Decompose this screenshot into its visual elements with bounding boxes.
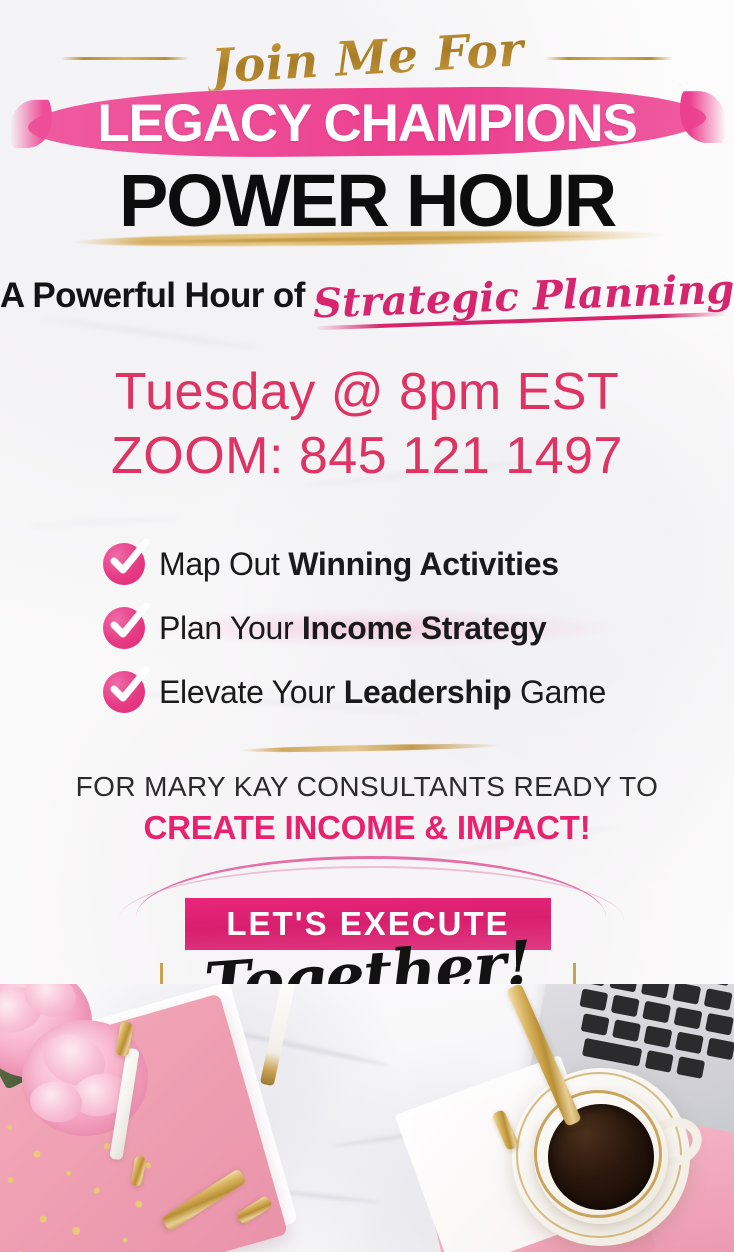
check-circle-icon <box>103 607 145 649</box>
gold-rule-left-icon <box>61 57 189 60</box>
schedule-time: Tuesday @ 8pm EST <box>0 360 734 424</box>
check-circle-icon <box>103 671 145 713</box>
cta-line-1: FOR MARY KAY CONSULTANTS READY TO <box>0 768 734 806</box>
list-item: Plan Your Income Strategy <box>0 596 734 660</box>
flyer-canvas: Join Me For LEGACY CHAMPIONS POWER HOUR … <box>0 0 734 1252</box>
subtitle-script-wrap: Strategic Planning <box>313 273 734 320</box>
list-item: Map Out Winning Activities <box>0 532 734 596</box>
headline: POWER HOUR <box>0 164 734 238</box>
subtitle-plain: A Powerful Hour of <box>0 276 305 316</box>
cta-block: FOR MARY KAY CONSULTANTS READY TO CREATE… <box>0 768 734 850</box>
list-item: Elevate Your Leadership Game <box>0 660 734 724</box>
list-item-text: Map Out Winning Activities <box>159 546 559 583</box>
gold-rule-right-icon <box>545 57 673 60</box>
cta-line-2: CREATE INCOME & IMPACT! <box>0 806 734 850</box>
photo-flatlay <box>0 984 734 1252</box>
check-circle-icon <box>103 543 145 585</box>
schedule-zoom-id: ZOOM: 845 121 1497 <box>0 424 734 488</box>
eyebrow-row: Join Me For <box>0 22 734 94</box>
gold-divider-icon <box>240 742 502 753</box>
list-item-text: Plan Your Income Strategy <box>159 610 546 647</box>
schedule-block: Tuesday @ 8pm EST ZOOM: 845 121 1497 <box>0 360 734 488</box>
subtitle-row: A Powerful Hour of Strategic Planning <box>0 268 734 324</box>
list-item-text: Elevate Your Leadership Game <box>159 674 606 711</box>
eyebrow-text: Join Me For <box>206 26 529 91</box>
banner-title: LEGACY CHAMPIONS <box>0 94 734 152</box>
benefits-list: Map Out Winning Activities Plan Your Inc… <box>0 532 734 724</box>
